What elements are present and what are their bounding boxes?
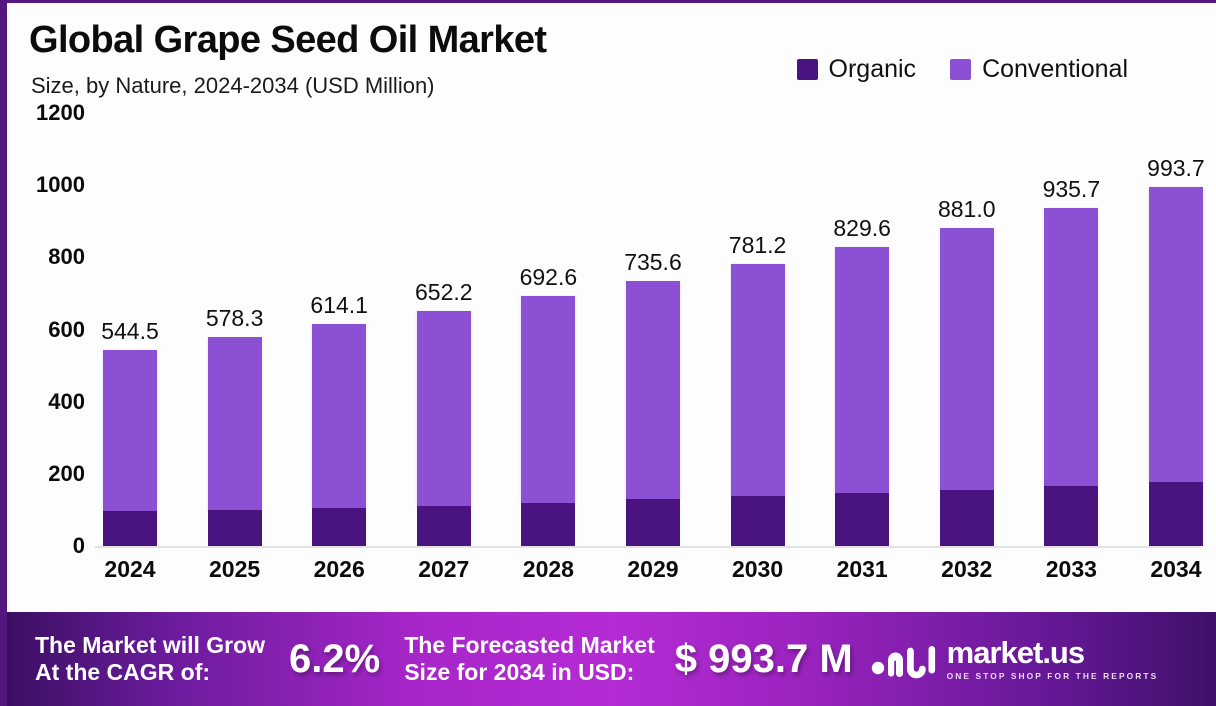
footer-bar: The Market will Grow At the CAGR of: 6.2… xyxy=(7,612,1216,706)
y-axis-tick: 1200 xyxy=(36,100,85,126)
cagr-value: 6.2% xyxy=(289,637,380,682)
bar-segment-organic[interactable] xyxy=(417,506,471,546)
bar-column[interactable]: 544.5 xyxy=(103,113,157,546)
page-subtitle: Size, by Nature, 2024-2034 (USD Million) xyxy=(31,73,435,99)
bar-segment-conventional[interactable] xyxy=(1044,208,1098,486)
y-axis: 120010008006004002000 xyxy=(7,113,95,558)
legend-label-conventional: Conventional xyxy=(982,55,1128,84)
bar-segment-organic[interactable] xyxy=(312,508,366,546)
bar-segment-organic[interactable] xyxy=(835,493,889,546)
bar-total-label: 614.1 xyxy=(310,292,368,319)
bar-total-label: 692.6 xyxy=(520,264,578,291)
bar-segment-conventional[interactable] xyxy=(835,247,889,493)
bar-column[interactable]: 993.7 xyxy=(1149,113,1203,546)
market-us-logo-icon xyxy=(871,639,937,679)
bar-column[interactable]: 692.6 xyxy=(521,113,575,546)
brand-logo[interactable]: market.us ONE STOP SHOP FOR THE REPORTS xyxy=(871,637,1159,680)
y-axis-tick: 1000 xyxy=(36,172,85,198)
bar-total-label: 544.5 xyxy=(101,318,159,345)
bar-segment-conventional[interactable] xyxy=(1149,187,1203,482)
x-axis-tick: 2024 xyxy=(103,556,157,583)
chart-plot-area: 120010008006004002000 544.5578.3614.1652… xyxy=(7,113,1216,613)
x-axis-tick: 2030 xyxy=(731,556,785,583)
y-axis-tick: 200 xyxy=(48,461,85,487)
x-axis-tick: 2033 xyxy=(1044,556,1098,583)
bar-segment-organic[interactable] xyxy=(1044,486,1098,546)
bar-total-label: 935.7 xyxy=(1043,176,1101,203)
forecast-value: $ 993.7 M xyxy=(675,637,853,682)
y-axis-tick: 600 xyxy=(48,317,85,343)
bar-segment-conventional[interactable] xyxy=(521,296,575,503)
bar-segment-conventional[interactable] xyxy=(208,337,262,509)
bar-total-label: 735.6 xyxy=(624,249,682,276)
x-axis-tick: 2031 xyxy=(835,556,889,583)
bar-segment-organic[interactable] xyxy=(940,490,994,546)
x-axis-tick: 2026 xyxy=(312,556,366,583)
bar-column[interactable]: 829.6 xyxy=(835,113,889,546)
bar-total-label: 578.3 xyxy=(206,305,264,332)
cagr-caption: The Market will Grow At the CAGR of: xyxy=(35,632,265,686)
forecast-caption: The Forecasted Market Size for 2034 in U… xyxy=(404,632,655,686)
bar-total-label: 829.6 xyxy=(833,215,891,242)
bar-column[interactable]: 935.7 xyxy=(1044,113,1098,546)
bar-segment-organic[interactable] xyxy=(208,510,262,546)
y-axis-tick: 800 xyxy=(48,244,85,270)
bar-column[interactable]: 652.2 xyxy=(417,113,471,546)
bar-total-label: 881.0 xyxy=(938,196,996,223)
bar-segment-organic[interactable] xyxy=(626,499,680,546)
bar-column[interactable]: 578.3 xyxy=(208,113,262,546)
chart-infographic: Global Grape Seed Oil Market Size, by Na… xyxy=(0,0,1216,706)
x-axis-tick: 2025 xyxy=(208,556,262,583)
bar-total-label: 652.2 xyxy=(415,279,473,306)
y-axis-tick: 400 xyxy=(48,389,85,415)
bar-column[interactable]: 881.0 xyxy=(940,113,994,546)
x-axis-baseline xyxy=(95,546,1200,548)
x-axis: 2024202520262027202820292030203120322033… xyxy=(103,556,1203,583)
legend-item-conventional[interactable]: Conventional xyxy=(950,55,1128,84)
bar-total-label: 781.2 xyxy=(729,232,787,259)
legend-swatch-conventional xyxy=(950,59,971,80)
brand-name: market.us xyxy=(947,637,1159,668)
bar-column[interactable]: 614.1 xyxy=(312,113,366,546)
bar-segment-conventional[interactable] xyxy=(731,264,785,496)
bar-segment-organic[interactable] xyxy=(103,511,157,546)
legend-item-organic[interactable]: Organic xyxy=(797,55,917,84)
y-axis-tick: 0 xyxy=(73,533,85,559)
bar-segment-conventional[interactable] xyxy=(626,281,680,500)
x-axis-tick: 2029 xyxy=(626,556,680,583)
x-axis-tick: 2028 xyxy=(521,556,575,583)
bar-segment-organic[interactable] xyxy=(731,496,785,546)
x-axis-tick: 2034 xyxy=(1149,556,1203,583)
bar-column[interactable]: 781.2 xyxy=(731,113,785,546)
bar-segment-organic[interactable] xyxy=(1149,482,1203,546)
x-axis-tick: 2027 xyxy=(417,556,471,583)
brand-text: market.us ONE STOP SHOP FOR THE REPORTS xyxy=(947,637,1159,680)
page-title: Global Grape Seed Oil Market xyxy=(29,19,546,62)
chart-header: Global Grape Seed Oil Market Size, by Na… xyxy=(7,3,1216,113)
x-axis-tick: 2032 xyxy=(940,556,994,583)
bar-segment-conventional[interactable] xyxy=(312,324,366,507)
bar-segment-organic[interactable] xyxy=(521,503,575,546)
bar-segment-conventional[interactable] xyxy=(417,311,471,506)
bar-total-label: 993.7 xyxy=(1147,155,1205,182)
bar-column[interactable]: 735.6 xyxy=(626,113,680,546)
bar-segment-conventional[interactable] xyxy=(940,228,994,490)
brand-tagline: ONE STOP SHOP FOR THE REPORTS xyxy=(947,672,1159,680)
bar-series-group: 544.5578.3614.1652.2692.6735.6781.2829.6… xyxy=(103,113,1203,546)
legend-label-organic: Organic xyxy=(829,55,917,84)
chart-legend: Organic Conventional xyxy=(797,55,1128,84)
legend-swatch-organic xyxy=(797,59,818,80)
bar-segment-conventional[interactable] xyxy=(103,350,157,512)
